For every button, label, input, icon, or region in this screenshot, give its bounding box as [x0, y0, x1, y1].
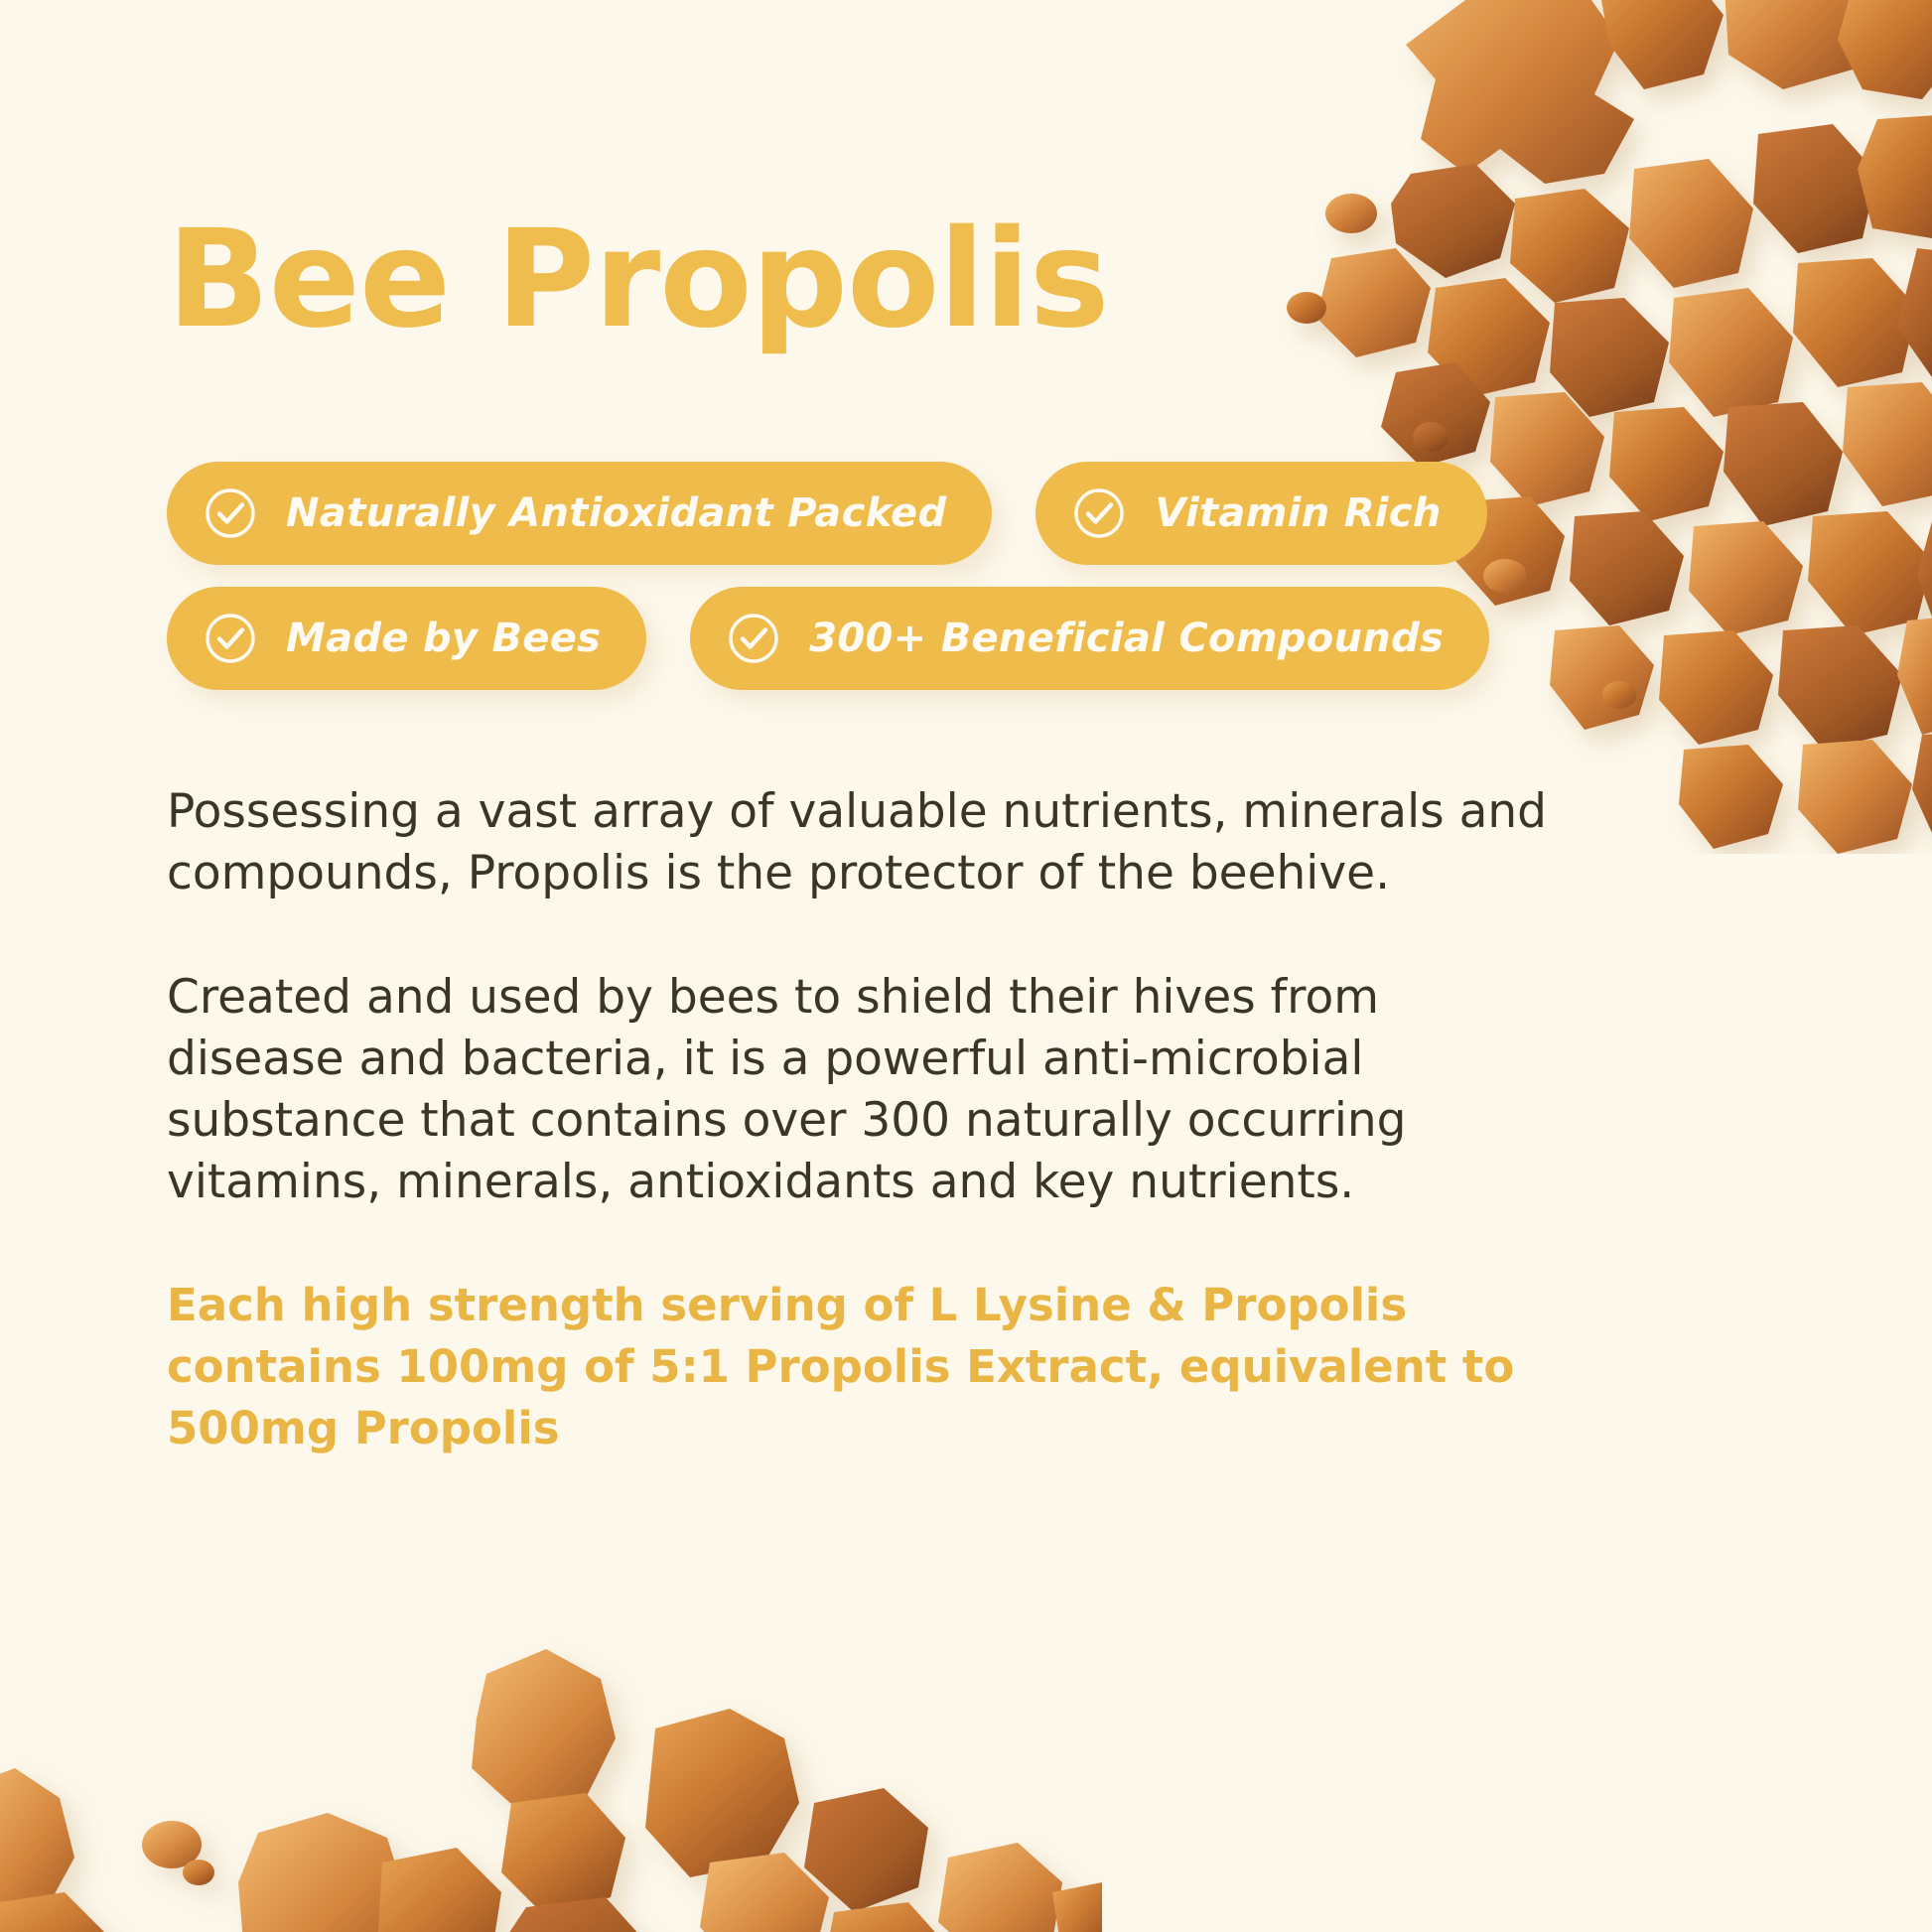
body-paragraph-2: Created and used by bees to shield their…: [167, 967, 1557, 1213]
badge-300-beneficial-compounds[interactable]: 300+ Beneficial Compounds: [690, 587, 1489, 690]
page-title: Bee Propolis: [167, 0, 1716, 350]
content-column: Bee Propolis Naturally Antioxidant Packe…: [167, 0, 1716, 1504]
check-circle-icon: [1073, 487, 1125, 539]
body-paragraph-1: Possessing a vast array of valuable nutr…: [167, 781, 1557, 904]
check-circle-icon: [205, 487, 256, 539]
dosage-highlight-text: Each high strength serving of L Lysine &…: [167, 1275, 1557, 1459]
product-info-page: Bee Propolis Naturally Antioxidant Packe…: [0, 0, 1932, 1932]
check-circle-icon: [205, 613, 256, 664]
badge-naturally-antioxidant-packed[interactable]: Naturally Antioxidant Packed: [167, 462, 992, 565]
badge-made-by-bees[interactable]: Made by Bees: [167, 587, 646, 690]
body-copy: Possessing a vast array of valuable nutr…: [167, 781, 1557, 1458]
badge-label: Naturally Antioxidant Packed: [286, 490, 946, 536]
badge-label: Made by Bees: [286, 616, 601, 661]
badge-row: Made by Bees 300+ Beneficial Compounds: [167, 587, 1716, 690]
feature-badges: Naturally Antioxidant Packed Vitamin Ric…: [167, 462, 1716, 690]
check-circle-icon: [728, 613, 779, 664]
badge-row: Naturally Antioxidant Packed Vitamin Ric…: [167, 462, 1716, 565]
badge-label: 300+ Beneficial Compounds: [809, 616, 1444, 661]
propolis-granules-image-bottom-left: [0, 1575, 1102, 1932]
badge-label: Vitamin Rich: [1155, 490, 1441, 536]
badge-vitamin-rich[interactable]: Vitamin Rich: [1035, 462, 1486, 565]
